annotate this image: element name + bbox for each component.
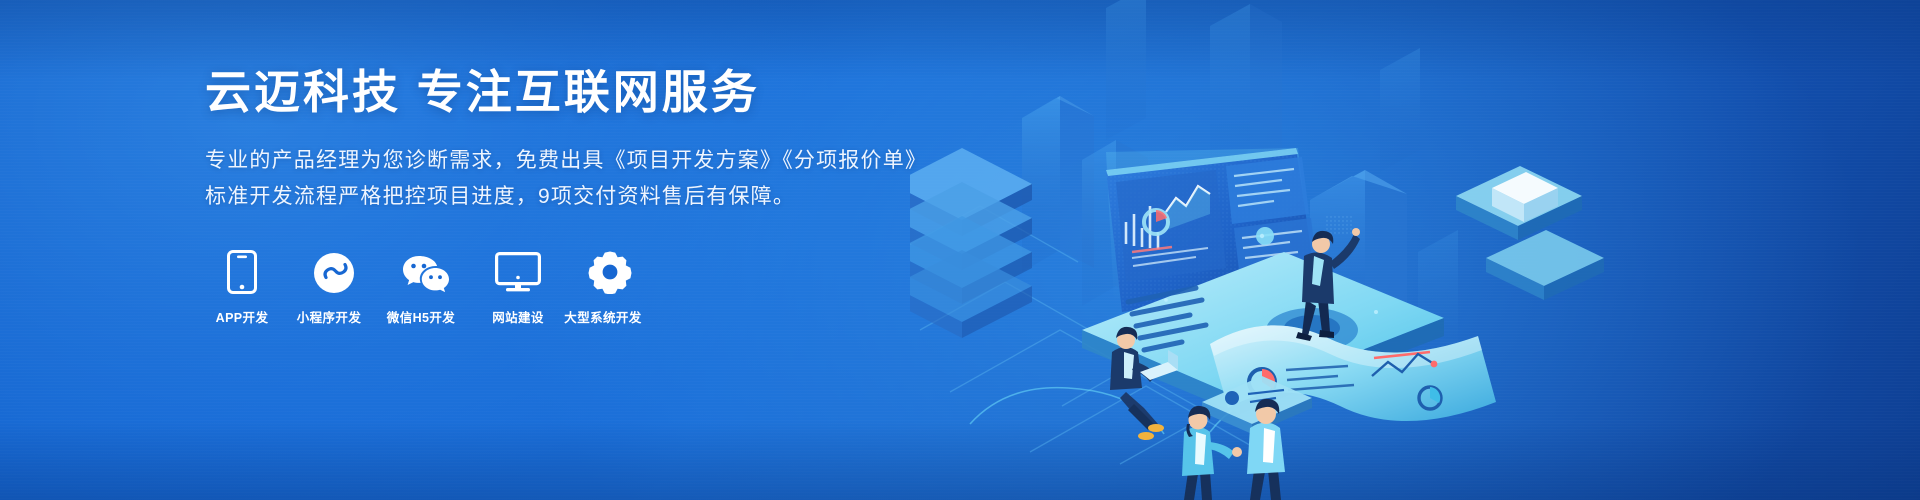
service-label: 网站建设 <box>481 307 555 326</box>
monitor-icon <box>481 248 555 294</box>
service-label: 大型系统开发 <box>559 307 647 326</box>
banner-content: 云迈科技 专注互联网服务 专业的产品经理为您诊断需求，免费出具《项目开发方案》《… <box>205 66 905 326</box>
gear-icon <box>573 248 647 294</box>
subtitle-line-2: 标准开发流程严格把控项目进度，9项交付资料售后有保障。 <box>205 179 905 215</box>
service-item-system[interactable]: 大型系统开发 <box>573 248 647 326</box>
hero-banner: 云迈科技 专注互联网服务 专业的产品经理为您诊断需求，免费出具《项目开发方案》《… <box>0 0 1920 500</box>
subtitle-line-1: 专业的产品经理为您诊断需求，免费出具《项目开发方案》《分项报价单》 <box>205 143 905 179</box>
service-item-website[interactable]: 网站建设 <box>481 248 555 326</box>
page-title: 云迈科技 专注互联网服务 <box>205 66 905 119</box>
service-item-wechat[interactable]: 微信H5开发 <box>389 248 463 326</box>
smartphone-icon <box>205 248 279 294</box>
server-stack <box>910 148 1032 338</box>
service-item-miniprogram[interactable]: 小程序开发 <box>297 248 371 326</box>
screen-chart-left <box>1116 170 1226 282</box>
wechat-icon <box>389 248 463 294</box>
side-platform <box>1456 166 1604 300</box>
service-icon-row: APP开发 小程序开发 <box>205 248 905 326</box>
service-label: 小程序开发 <box>287 307 371 326</box>
banner-subtitle: 专业的产品经理为您诊断需求，免费出具《项目开发方案》《分项报价单》 标准开发流程… <box>205 143 905 215</box>
isometric-tech-illustration <box>910 0 1920 500</box>
miniprogram-icon <box>297 248 371 294</box>
service-label: APP开发 <box>205 307 279 326</box>
service-item-app[interactable]: APP开发 <box>205 248 279 326</box>
service-label: 微信H5开发 <box>379 307 463 326</box>
